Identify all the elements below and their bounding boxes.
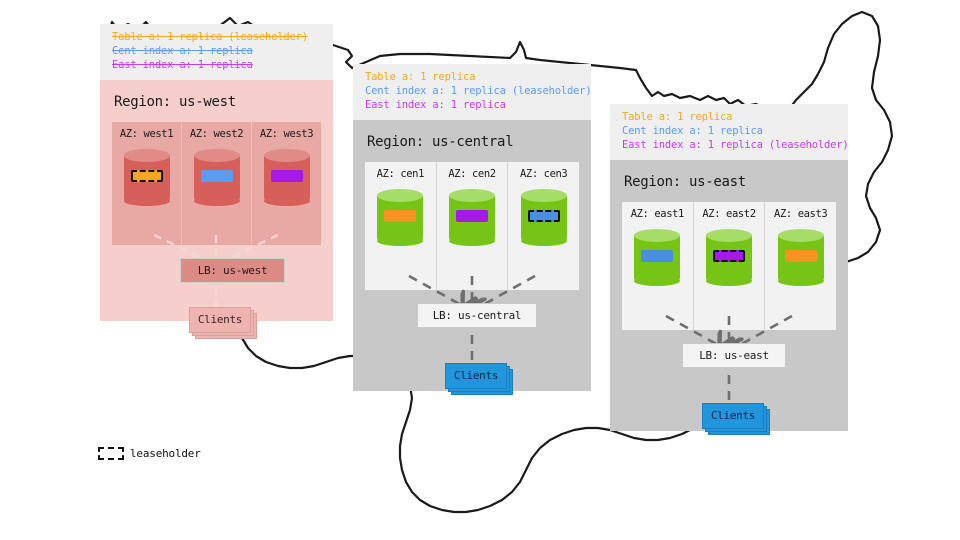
az-cell-west3[interactable]: AZ: west3 [252, 122, 321, 245]
az-cell-west1[interactable]: AZ: west1 [112, 122, 182, 245]
node-cylinder-east2[interactable] [706, 229, 752, 292]
cylinder-top [634, 229, 680, 242]
node-cylinder-cen1[interactable] [377, 189, 423, 252]
region-title-us-central: Region: us-central [367, 134, 579, 150]
region-panel-us-east: Table a: 1 replica Cent index a: 1 repli… [610, 104, 848, 431]
range-bar-table-a [785, 250, 817, 262]
az-cell-east3[interactable]: AZ: east3 [765, 202, 836, 330]
range-bar-cent-index-a [528, 210, 560, 222]
az-label-east2: AZ: east2 [698, 208, 761, 220]
clients-label: Clients [454, 369, 498, 382]
cylinder-bottom [634, 276, 680, 286]
legend-line-east-index-a: East index a: 1 replica (leaseholder) [622, 139, 838, 153]
legend-line-east-index-a: East index a: 1 replica [365, 99, 581, 113]
cylinder-top [706, 229, 752, 242]
region-legend-us-central: Table a: 1 replica Cent index a: 1 repli… [353, 64, 591, 120]
region-panel-us-west: Table a: 1 replica (leaseholder) Cent in… [100, 24, 333, 321]
cylinder-bottom [194, 196, 240, 206]
node-cylinder-west3[interactable] [264, 149, 310, 212]
az-label-east1: AZ: east1 [626, 208, 689, 220]
node-cylinder-cen2[interactable] [449, 189, 495, 252]
az-cell-cen3[interactable]: AZ: cen3 [508, 162, 579, 290]
node-cylinder-cen3[interactable] [521, 189, 567, 252]
az-cell-east2[interactable]: AZ: east2 [694, 202, 766, 330]
clients-box-us-east[interactable]: Clients [702, 403, 764, 429]
load-balancer-us-east[interactable]: LB: us-east [682, 343, 786, 368]
cylinder-top [124, 149, 170, 162]
region-legend-us-west: Table a: 1 replica (leaseholder) Cent in… [100, 24, 333, 80]
legend-line-table-a: Table a: 1 replica (leaseholder) [112, 31, 323, 45]
cylinder-bottom [264, 196, 310, 206]
legend-line-table-a: Table a: 1 replica [622, 111, 838, 125]
clients-box-us-central[interactable]: Clients [445, 363, 507, 389]
node-cylinder-east3[interactable] [778, 229, 824, 292]
cylinder-bottom [521, 236, 567, 246]
range-bar-cent-index-a [641, 250, 673, 262]
diagram-canvas: Table a: 1 replica (leaseholder) Cent in… [0, 0, 960, 540]
az-label-east3: AZ: east3 [769, 208, 832, 220]
legend-line-east-index-a: East index a: 1 replica [112, 59, 323, 73]
cylinder-top [264, 149, 310, 162]
leaseholder-legend-label: leaseholder [130, 447, 201, 460]
region-title-us-west: Region: us-west [114, 94, 321, 110]
range-bar-cent-index-a [201, 170, 233, 182]
lb-label: LB: us-west [198, 264, 268, 277]
node-cylinder-west1[interactable] [124, 149, 170, 212]
cylinder-bottom [377, 236, 423, 246]
az-label-cen3: AZ: cen3 [512, 168, 575, 180]
load-balancer-us-west[interactable]: LB: us-west [180, 258, 285, 283]
az-label-west3: AZ: west3 [256, 128, 317, 140]
az-label-west2: AZ: west2 [186, 128, 247, 140]
clients-label: Clients [711, 409, 755, 422]
az-label-cen1: AZ: cen1 [369, 168, 432, 180]
az-strip-us-central: AZ: cen1 AZ: cen2 [365, 162, 579, 290]
range-bar-east-index-a [271, 170, 303, 182]
az-cell-cen1[interactable]: AZ: cen1 [365, 162, 437, 290]
region-title-us-east: Region: us-east [624, 174, 836, 190]
region-legend-us-east: Table a: 1 replica Cent index a: 1 repli… [610, 104, 848, 160]
cylinder-bottom [706, 276, 752, 286]
legend-line-cent-index-a: Cent index a: 1 replica [622, 125, 838, 139]
load-balancer-us-central[interactable]: LB: us-central [417, 303, 537, 328]
az-strip-us-east: AZ: east1 AZ: east2 [622, 202, 836, 330]
az-label-west1: AZ: west1 [116, 128, 177, 140]
clients-stack-us-central[interactable]: Clients [445, 363, 511, 393]
az-label-cen2: AZ: cen2 [441, 168, 504, 180]
legend-line-cent-index-a: Cent index a: 1 replica [112, 45, 323, 59]
lb-label: LB: us-central [433, 309, 522, 322]
az-cell-east1[interactable]: AZ: east1 [622, 202, 694, 330]
range-bar-table-a [384, 210, 416, 222]
cylinder-bottom [124, 196, 170, 206]
clients-stack-us-west[interactable]: Clients [189, 307, 255, 337]
legend-line-cent-index-a: Cent index a: 1 replica (leaseholder) [365, 85, 581, 99]
clients-box-us-west[interactable]: Clients [189, 307, 251, 333]
region-panel-us-central: Table a: 1 replica Cent index a: 1 repli… [353, 64, 591, 391]
clients-stack-us-east[interactable]: Clients [702, 403, 768, 433]
node-cylinder-east1[interactable] [634, 229, 680, 292]
clients-label: Clients [198, 313, 242, 326]
leaseholder-legend: leaseholder [98, 447, 201, 460]
range-bar-east-index-a [713, 250, 745, 262]
lb-label: LB: us-east [699, 349, 769, 362]
legend-line-table-a: Table a: 1 replica [365, 71, 581, 85]
cylinder-top [778, 229, 824, 242]
az-cell-cen2[interactable]: AZ: cen2 [437, 162, 509, 290]
cylinder-top [521, 189, 567, 202]
az-strip-us-west: AZ: west1 AZ: west2 [112, 122, 321, 245]
cylinder-top [377, 189, 423, 202]
dashed-rect-icon [98, 447, 124, 460]
cylinder-top [194, 149, 240, 162]
range-bar-east-index-a [456, 210, 488, 222]
range-bar-table-a [131, 170, 163, 182]
cylinder-bottom [449, 236, 495, 246]
node-cylinder-west2[interactable] [194, 149, 240, 212]
cylinder-top [449, 189, 495, 202]
az-cell-west2[interactable]: AZ: west2 [182, 122, 252, 245]
cylinder-bottom [778, 276, 824, 286]
